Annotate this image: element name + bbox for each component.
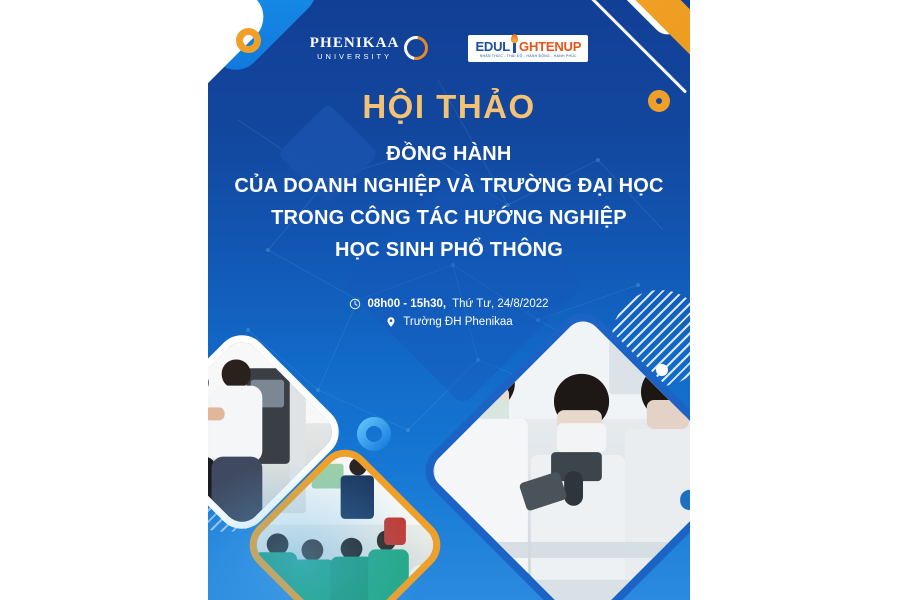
clock-icon xyxy=(349,298,361,310)
event-place-row: Trường ĐH Phenikaa xyxy=(208,316,690,328)
event-time-row: 08h00 - 15h30, Thứ Tư, 24/8/2022 xyxy=(208,298,690,310)
decor-ring-blue-center xyxy=(356,416,392,452)
subtitle-line-4: HỌC SINH PHỔ THÔNG xyxy=(208,239,690,262)
event-time-rest: Thứ Tư, 24/8/2022 xyxy=(452,298,548,310)
logo-bar: PHENIKAA UNIVERSITY EDUL GHTENUP NHẬN TH… xyxy=(208,24,690,72)
subtitle-line-1: ĐỒNG HÀNH xyxy=(208,143,690,166)
phenikaa-subtitle: UNIVERSITY xyxy=(317,53,392,61)
decor-ring-white-right xyxy=(656,364,668,376)
phenikaa-ring-icon xyxy=(400,31,433,64)
location-pin-icon xyxy=(385,316,397,328)
title-block: HỘI THẢO ĐỒNG HÀNH CỦA DOANH NGHIỆP VÀ T… xyxy=(208,88,690,262)
event-poster: + PHENIKAA UNIVERSITY EDUL xyxy=(208,0,690,600)
edulightenup-tagline: NHẬN THỨC - THÁI ĐỘ - HÀNH ĐỘNG - HẠNH P… xyxy=(475,54,581,58)
edulightenup-part-b: GHTENUP xyxy=(519,40,581,53)
event-time-strong: 08h00 - 15h30, xyxy=(367,298,446,310)
torch-icon xyxy=(510,38,519,53)
subtitle-line-2: CỦA DOANH NGHIỆP VÀ TRƯỜNG ĐẠI HỌC xyxy=(208,175,690,198)
poster-canvas: + PHENIKAA UNIVERSITY EDUL xyxy=(0,0,900,600)
subtitle-line-3: TRONG CÔNG TÁC HƯỚNG NGHIỆP xyxy=(208,207,690,230)
phenikaa-name: PHENIKAA xyxy=(310,36,400,51)
edulightenup-part-a: EDUL xyxy=(475,40,510,53)
event-place: Trường ĐH Phenikaa xyxy=(403,316,512,328)
event-details: 08h00 - 15h30, Thứ Tư, 24/8/2022 Trường … xyxy=(208,298,690,328)
hero-title: HỘI THẢO xyxy=(208,88,690,126)
decor-bottom-glow xyxy=(208,460,428,600)
edulightenup-logo: EDUL GHTENUP NHẬN THỨC - THÁI ĐỘ - HÀNH … xyxy=(468,35,588,62)
phenikaa-university-logo: PHENIKAA UNIVERSITY xyxy=(310,36,429,61)
